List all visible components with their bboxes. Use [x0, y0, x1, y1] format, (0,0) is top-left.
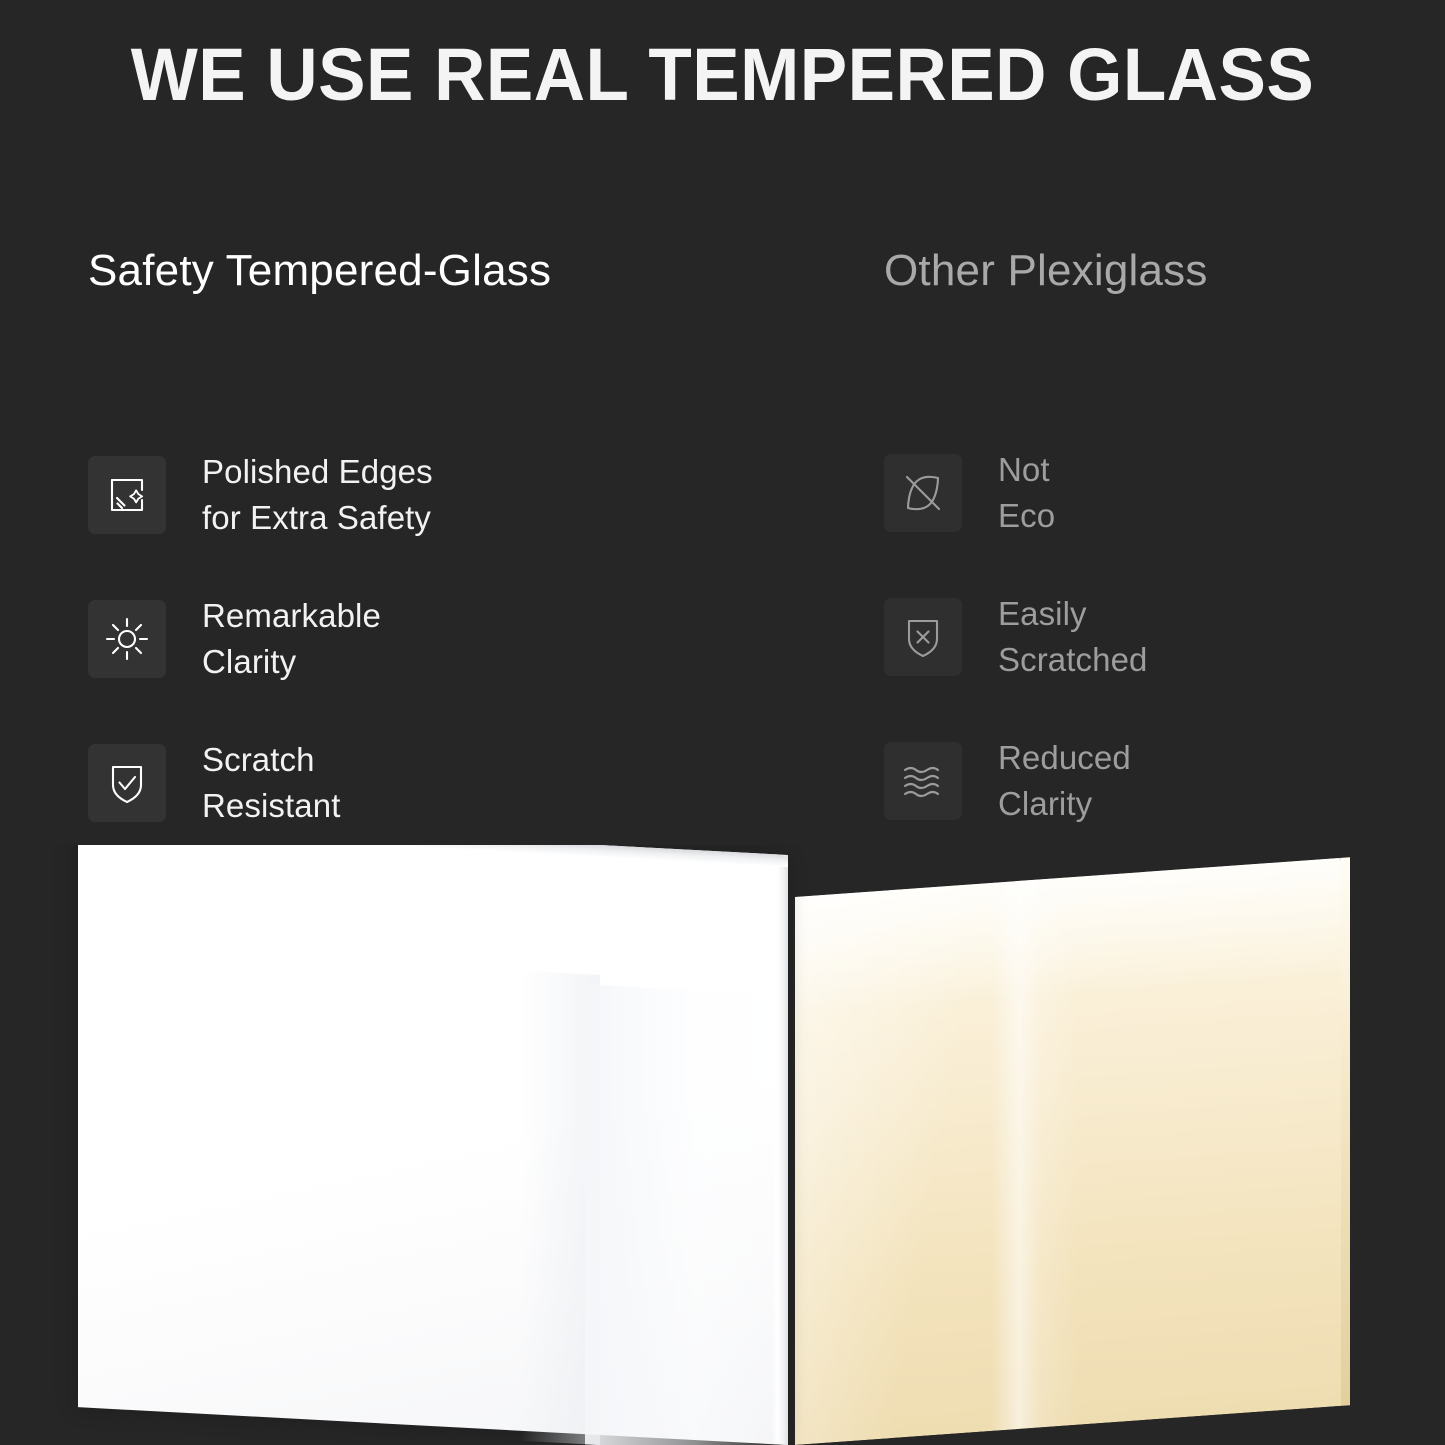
feature-item-reduced-clarity: Reduced Clarity — [884, 732, 1424, 830]
leaf-crossed-out-icon — [884, 454, 962, 532]
feature-label-reduced-clarity: Reduced Clarity — [998, 735, 1131, 826]
feature-label-polished-edges: Polished Edges for Extra Safety — [202, 449, 433, 540]
feature-item-scratch-resistant: Scratch Resistant — [88, 734, 848, 832]
feature-list-left: Polished Edges for Extra Safety Remarkab… — [88, 446, 848, 832]
feature-label-scratch-resistant: Scratch Resistant — [202, 737, 340, 828]
feature-list-right: Not Eco Easily Scratched — [884, 444, 1424, 830]
column-title-right: Other Plexiglass — [884, 238, 1424, 303]
feature-label-not-eco: Not Eco — [998, 447, 1055, 538]
column-title-left: Safety Tempered-Glass — [88, 238, 848, 303]
page-title: WE USE REAL TEMPERED GLASS — [29, 38, 1416, 112]
feature-item-not-eco: Not Eco — [884, 444, 1424, 542]
feature-item-polished-edges: Polished Edges for Extra Safety — [88, 446, 848, 544]
product-image-area — [0, 845, 1445, 1445]
polished-edge-sparkle-icon — [88, 456, 166, 534]
column-other-plexiglass: Other Plexiglass Not Eco — [884, 238, 1424, 303]
feature-label-easily-scratched: Easily Scratched — [998, 591, 1147, 682]
sun-brightness-icon — [88, 600, 166, 678]
feature-item-easily-scratched: Easily Scratched — [884, 588, 1424, 686]
shield-x-icon — [884, 598, 962, 676]
feature-item-remarkable-clarity: Remarkable Clarity — [88, 590, 848, 688]
comparison-section: Safety Tempered-Glass Polished Edges for… — [0, 238, 1445, 838]
plexiglass-panel — [795, 858, 1341, 1445]
tempered-glass-panel — [78, 845, 788, 1445]
wavy-lines-icon — [884, 742, 962, 820]
column-safety-tempered-glass: Safety Tempered-Glass Polished Edges for… — [88, 238, 848, 303]
feature-label-remarkable-clarity: Remarkable Clarity — [202, 593, 381, 684]
shield-check-icon — [88, 744, 166, 822]
